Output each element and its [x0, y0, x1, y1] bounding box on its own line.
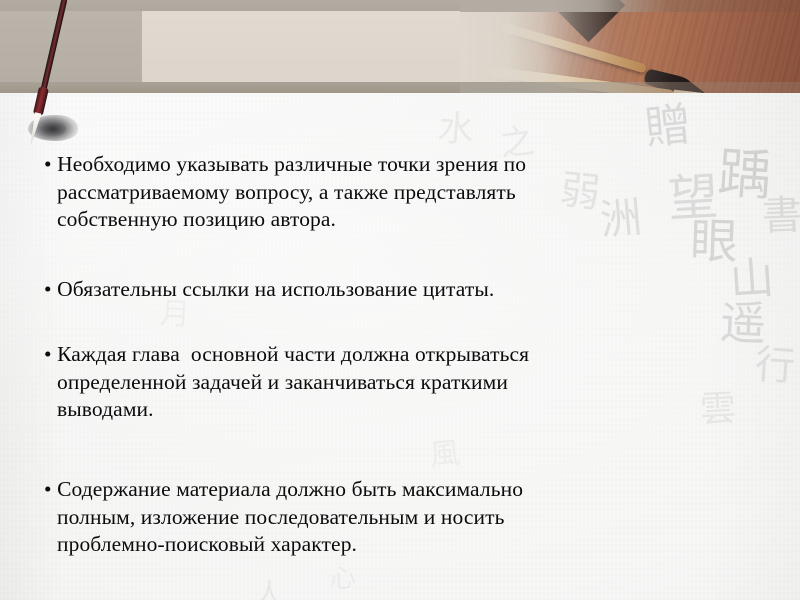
- slide-body: • Необходимо указывать различные точки з…: [0, 0, 800, 600]
- presentation-slide: 贈踽望眼山遥洲弱書水之行雲人心月風 • Необходимо указывать…: [0, 0, 800, 600]
- bullet-item-4: • Содержание материала должно быть макси…: [44, 476, 697, 559]
- bullet-item-1: • Необходимо указывать различные точки з…: [44, 151, 697, 234]
- bullet-item-3: • Каждая глава основной части должна отк…: [44, 341, 697, 424]
- bullet-item-2: • Обязательны ссылки на использование ци…: [44, 276, 697, 304]
